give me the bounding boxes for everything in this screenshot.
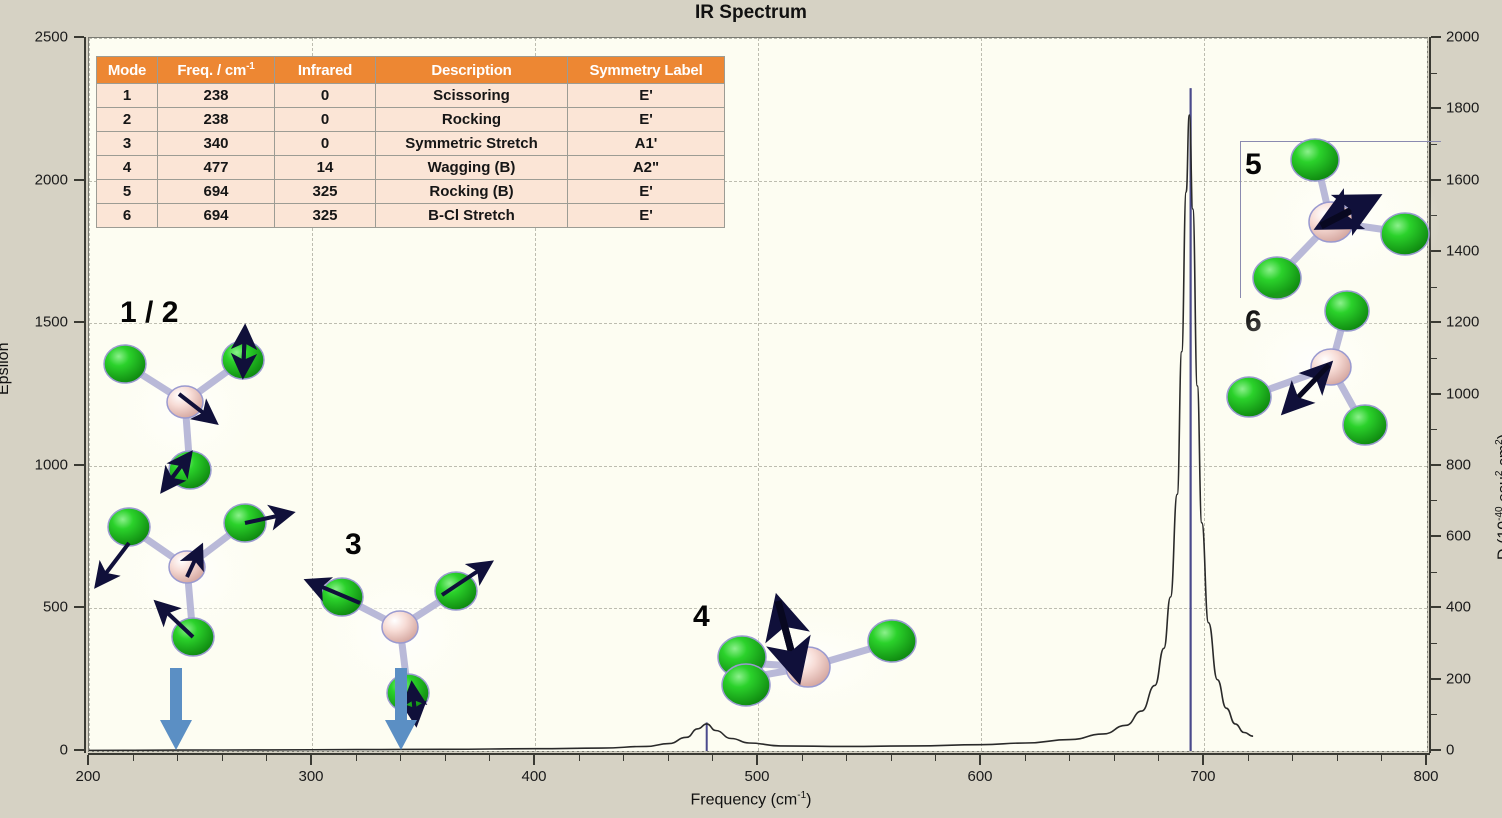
molecule-mode-1 bbox=[95, 330, 275, 490]
y-right-tick-label: 400 bbox=[1446, 599, 1471, 616]
col-header-frequency: Freq. / cm-1 bbox=[158, 57, 275, 84]
y-right-tick-label: 2000 bbox=[1446, 29, 1479, 46]
col-header-description: Description bbox=[376, 57, 568, 84]
x-minor-tick bbox=[266, 755, 267, 761]
x-tick-label: 800 bbox=[1413, 768, 1438, 785]
x-minor-tick bbox=[1069, 755, 1070, 761]
x-minor-tick bbox=[1248, 755, 1249, 761]
x-tick bbox=[533, 755, 535, 765]
y-left-tick-label: 0 bbox=[60, 742, 68, 759]
x-minor-tick bbox=[1025, 755, 1026, 761]
y-right-tick-label: 1600 bbox=[1446, 171, 1479, 188]
y-right-title-sup1: -40 bbox=[1494, 506, 1502, 520]
table-row: 5694325Rocking (B)E' bbox=[97, 180, 725, 204]
x-minor-tick bbox=[489, 755, 490, 761]
x-title-tail: ) bbox=[806, 791, 811, 808]
y-right-tick-label: 1800 bbox=[1446, 100, 1479, 117]
cell-symmetry: A2" bbox=[568, 156, 725, 180]
y-right-title-sup2: 2 bbox=[1494, 471, 1502, 477]
table-body: 12380ScissoringE'22380RockingE'33400Symm… bbox=[97, 84, 725, 228]
x-minor-tick bbox=[1337, 755, 1338, 761]
cell-mode: 6 bbox=[97, 204, 158, 228]
y-right-tick-label: 1000 bbox=[1446, 385, 1479, 402]
cell-infrared: 14 bbox=[275, 156, 376, 180]
cell-mode: 5 bbox=[97, 180, 158, 204]
x-minor-tick bbox=[445, 755, 446, 761]
y-left-tick-label: 500 bbox=[43, 599, 68, 616]
cell-infrared: 325 bbox=[275, 204, 376, 228]
y-left-tick bbox=[74, 321, 84, 323]
y-right-tick bbox=[1431, 36, 1441, 38]
cell-description: Wagging (B) bbox=[376, 156, 568, 180]
cell-infrared: 325 bbox=[275, 180, 376, 204]
cell-description: Scissoring bbox=[376, 84, 568, 108]
y-right-title-sup3: 2 bbox=[1494, 439, 1502, 445]
y-right-title-head: D (10 bbox=[1495, 521, 1502, 560]
y-right-tick-label: 1400 bbox=[1446, 242, 1479, 259]
table-row: 33400Symmetric StretchA1' bbox=[97, 132, 725, 156]
y-left-tick-label: 2000 bbox=[35, 171, 68, 188]
cell-freq: 238 bbox=[158, 84, 275, 108]
y-left-tick bbox=[74, 606, 84, 608]
cell-freq: 340 bbox=[158, 132, 275, 156]
vibrational-modes-table: Mode Freq. / cm-1 Infrared Description S… bbox=[96, 56, 725, 228]
x-minor-tick bbox=[222, 755, 223, 761]
col-header-infrared: Infrared bbox=[275, 57, 376, 84]
mode-label-1-2: 1 / 2 bbox=[120, 296, 178, 330]
cell-symmetry: E' bbox=[568, 180, 725, 204]
y-right-title-mid2: cm bbox=[1495, 445, 1502, 471]
y-axis-right-title: D (10-40 esu2 cm2) bbox=[1494, 434, 1502, 560]
x-tick-label: 500 bbox=[744, 768, 769, 785]
y-left-tick-label: 1000 bbox=[35, 456, 68, 473]
cell-freq: 694 bbox=[158, 180, 275, 204]
table-row: 12380ScissoringE' bbox=[97, 84, 725, 108]
cell-freq: 477 bbox=[158, 156, 275, 180]
x-minor-tick bbox=[623, 755, 624, 761]
cell-description: Rocking bbox=[376, 108, 568, 132]
y-right-minor-tick bbox=[1431, 500, 1437, 501]
y-right-title-mid: esu bbox=[1495, 476, 1502, 506]
y-right-minor-tick bbox=[1431, 429, 1437, 430]
cell-mode: 2 bbox=[97, 108, 158, 132]
table-row: 6694325B-Cl StretchE' bbox=[97, 204, 725, 228]
molecule-mode-2 bbox=[95, 485, 280, 660]
cell-infrared: 0 bbox=[275, 84, 376, 108]
x-minor-tick bbox=[133, 755, 134, 761]
cell-symmetry: E' bbox=[568, 108, 725, 132]
x-minor-tick bbox=[891, 755, 892, 761]
table-row: 447714Wagging (B)A2" bbox=[97, 156, 725, 180]
y-right-minor-tick bbox=[1431, 358, 1437, 359]
x-minor-tick bbox=[712, 755, 713, 761]
y-right-tick bbox=[1431, 749, 1441, 751]
x-tick-label: 700 bbox=[1190, 768, 1215, 785]
x-tick bbox=[310, 755, 312, 765]
y-right-minor-tick bbox=[1431, 643, 1437, 644]
cell-description: Rocking (B) bbox=[376, 180, 568, 204]
y-left-tick-label: 2500 bbox=[35, 29, 68, 46]
y-left-tick bbox=[74, 36, 84, 38]
x-tick bbox=[979, 755, 981, 765]
y-left-tick bbox=[74, 749, 84, 751]
y-left-tick bbox=[74, 179, 84, 181]
molecule-mode-5 bbox=[1243, 140, 1443, 305]
y-right-tick bbox=[1431, 606, 1441, 608]
x-tick-label: 400 bbox=[521, 768, 546, 785]
x-tick bbox=[1425, 755, 1427, 765]
x-minor-tick bbox=[1381, 755, 1382, 761]
x-minor-tick bbox=[1114, 755, 1115, 761]
col-header-frequency-sup: -1 bbox=[246, 61, 255, 72]
x-minor-tick bbox=[1158, 755, 1159, 761]
y-right-tick-label: 200 bbox=[1446, 670, 1471, 687]
x-minor-tick bbox=[579, 755, 580, 761]
y-right-tick-label: 800 bbox=[1446, 456, 1471, 473]
y-right-tick bbox=[1431, 393, 1441, 395]
cell-symmetry: A1' bbox=[568, 132, 725, 156]
y-left-tick bbox=[74, 464, 84, 466]
x-axis-title: Frequency (cm-1) bbox=[0, 790, 1502, 809]
x-tick bbox=[1202, 755, 1204, 765]
cell-description: Symmetric Stretch bbox=[376, 132, 568, 156]
y-right-minor-tick bbox=[1431, 572, 1437, 573]
inactive-mode-arrow-238 bbox=[158, 668, 194, 754]
x-title-head: Frequency (cm bbox=[691, 791, 798, 808]
x-tick bbox=[87, 755, 89, 765]
x-minor-tick bbox=[802, 755, 803, 761]
y-right-tick-label: 0 bbox=[1446, 742, 1454, 759]
y-axis-left-spine bbox=[84, 37, 86, 753]
cell-symmetry: E' bbox=[568, 204, 725, 228]
x-minor-tick bbox=[1292, 755, 1293, 761]
cell-mode: 1 bbox=[97, 84, 158, 108]
y-right-tick bbox=[1431, 678, 1441, 680]
y-axis-left-title: Epsilon bbox=[0, 343, 13, 395]
x-axis-spine bbox=[88, 753, 1430, 755]
cell-description: B-Cl Stretch bbox=[376, 204, 568, 228]
col-header-frequency-text: Freq. / cm bbox=[177, 62, 246, 79]
inactive-mode-arrow-340 bbox=[383, 668, 419, 754]
y-right-title-tail: ) bbox=[1495, 434, 1502, 439]
cell-infrared: 0 bbox=[275, 108, 376, 132]
x-minor-tick bbox=[400, 755, 401, 761]
cell-freq: 238 bbox=[158, 108, 275, 132]
table-row: 22380RockingE' bbox=[97, 108, 725, 132]
y-right-tick bbox=[1431, 107, 1441, 109]
x-minor-tick bbox=[668, 755, 669, 761]
col-header-mode: Mode bbox=[97, 57, 158, 84]
x-title-sup: -1 bbox=[797, 790, 806, 801]
y-right-tick-label: 600 bbox=[1446, 528, 1471, 545]
cell-mode: 3 bbox=[97, 132, 158, 156]
cell-infrared: 0 bbox=[275, 132, 376, 156]
molecule-mode-4 bbox=[690, 595, 930, 725]
x-minor-tick bbox=[177, 755, 178, 761]
cell-mode: 4 bbox=[97, 156, 158, 180]
y-right-minor-tick bbox=[1431, 714, 1437, 715]
x-tick-label: 200 bbox=[75, 768, 100, 785]
page-title: IR Spectrum bbox=[0, 2, 1502, 24]
x-minor-tick bbox=[356, 755, 357, 761]
ir-spectrum-figure: IR Spectrum 0500100015002000250002004006… bbox=[0, 0, 1502, 818]
x-minor-tick bbox=[935, 755, 936, 761]
y-right-minor-tick bbox=[1431, 73, 1437, 74]
y-right-tick bbox=[1431, 535, 1441, 537]
y-right-tick bbox=[1431, 464, 1441, 466]
molecule-mode-6 bbox=[1215, 285, 1415, 440]
y-right-tick-label: 1200 bbox=[1446, 314, 1479, 331]
x-tick bbox=[756, 755, 758, 765]
cell-symmetry: E' bbox=[568, 84, 725, 108]
col-header-symmetry: Symmetry Label bbox=[568, 57, 725, 84]
y-right-tick bbox=[1431, 321, 1441, 323]
x-tick-label: 300 bbox=[298, 768, 323, 785]
x-tick-label: 600 bbox=[967, 768, 992, 785]
table-header-row: Mode Freq. / cm-1 Infrared Description S… bbox=[97, 57, 725, 84]
y-left-tick-label: 1500 bbox=[35, 314, 68, 331]
gridline-horizontal bbox=[89, 751, 1427, 752]
cell-freq: 694 bbox=[158, 204, 275, 228]
x-minor-tick bbox=[846, 755, 847, 761]
